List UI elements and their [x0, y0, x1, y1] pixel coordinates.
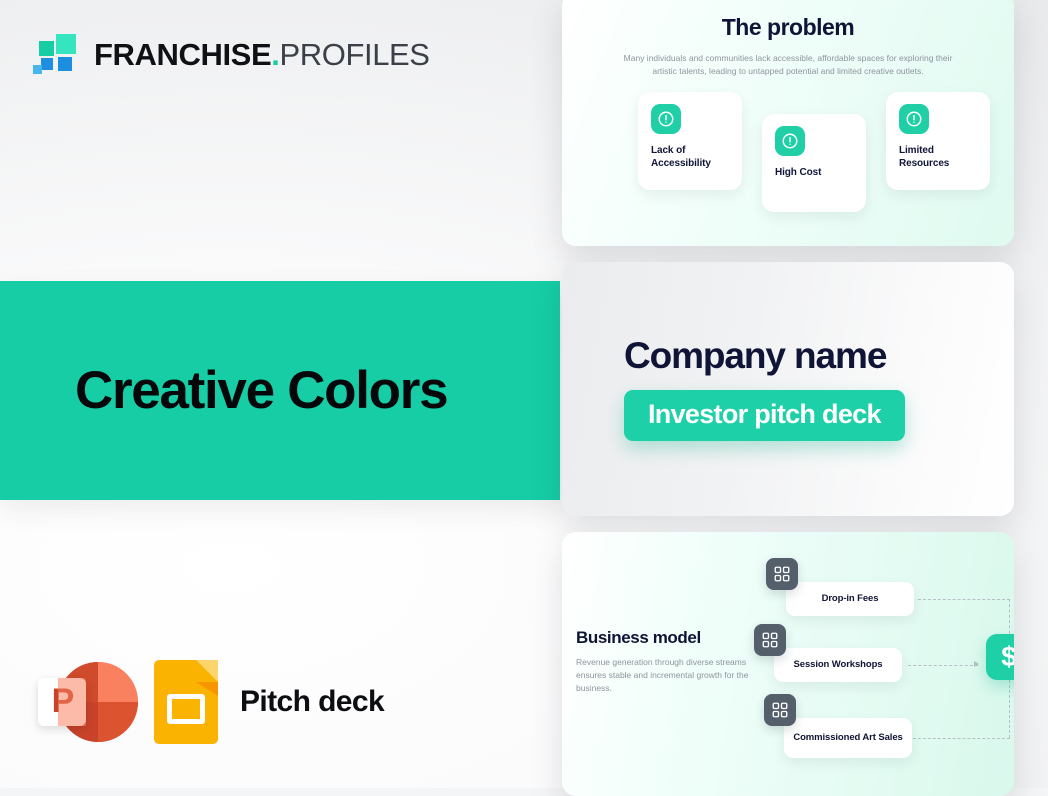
revenue-stream-card: Commissioned Art Sales [784, 718, 912, 758]
revenue-stream-card: Drop-in Fees [786, 582, 914, 616]
slide-preview-title[interactable]: Company name Investor pitch deck [562, 262, 1014, 516]
company-name-title: Company name [624, 337, 1014, 376]
brand-lockup: FRANCHISE.PROFILES [36, 32, 430, 76]
grid-layout-icon [754, 624, 786, 656]
dollar-sign-icon: $ [986, 634, 1014, 680]
creative-colors-banner: Creative Colors [0, 281, 560, 500]
format-availability-row: P Pitch deck [38, 660, 384, 744]
format-label: Pitch deck [240, 685, 384, 719]
problem-slide-subtitle: Many individuals and communities lack ac… [623, 52, 953, 78]
alert-circle-icon [651, 104, 681, 134]
connector-arrow-icon [974, 661, 979, 667]
problem-card: High Cost [762, 114, 866, 212]
connector-line [908, 665, 978, 666]
investor-pitch-deck-pill: Investor pitch deck [624, 390, 905, 441]
alert-circle-icon [775, 126, 805, 156]
problem-card-group: Lack of Accessibility High Cost Limited … [588, 92, 988, 216]
business-model-title: Business model [576, 628, 776, 648]
problem-card-label: High Cost [775, 167, 853, 180]
google-slides-icon [154, 660, 218, 744]
connector-line [1009, 680, 1010, 738]
slide-preview-problem[interactable]: The problem Many individuals and communi… [562, 0, 1014, 246]
alert-circle-icon [899, 104, 929, 134]
problem-card: Limited Resources [886, 92, 990, 190]
grid-layout-icon [764, 694, 796, 726]
connector-line [908, 738, 1010, 739]
problem-card: Lack of Accessibility [638, 92, 742, 190]
powerpoint-icon: P [38, 660, 132, 744]
problem-card-label: Limited Resources [899, 145, 977, 171]
squares-logo-icon [36, 32, 80, 76]
connector-line [1009, 599, 1010, 639]
connector-line [918, 599, 1010, 600]
brand-name-light: PROFILES [279, 37, 429, 72]
brand-name-bold: FRANCHISE [94, 37, 271, 72]
business-model-subtitle: Revenue generation through diverse strea… [576, 656, 776, 696]
problem-slide-title: The problem [588, 14, 988, 41]
grid-layout-icon [766, 558, 798, 590]
slide-preview-business-model[interactable]: Business model Revenue generation throug… [562, 532, 1014, 796]
business-model-text-block: Business model Revenue generation throug… [576, 628, 776, 696]
business-model-diagram: Drop-in Fees Session Workshops Commissio… [762, 532, 1014, 796]
brand-wordmark: FRANCHISE.PROFILES [94, 39, 430, 70]
banner-title: Creative Colors [75, 364, 447, 417]
revenue-stream-card: Session Workshops [774, 648, 902, 682]
problem-card-label: Lack of Accessibility [651, 145, 729, 171]
